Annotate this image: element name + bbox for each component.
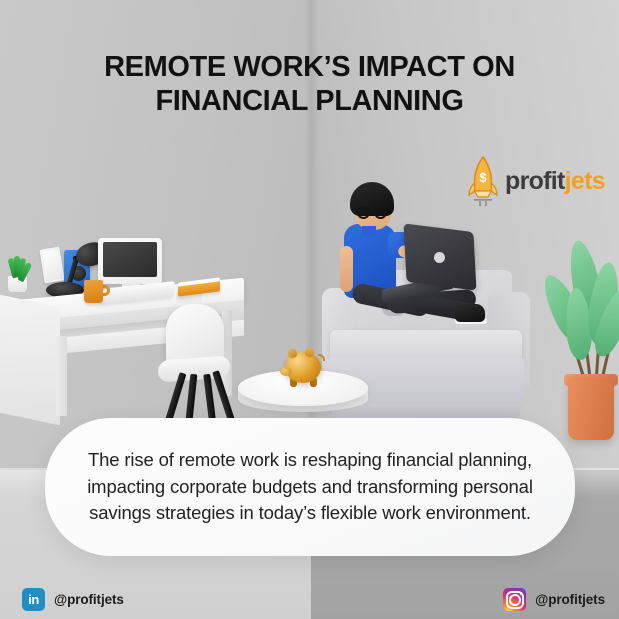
monitor [98, 238, 162, 284]
instagram-icon-dot [520, 592, 523, 595]
footer-instagram[interactable]: @profitjets [503, 588, 605, 611]
instagram-icon[interactable] [503, 588, 526, 611]
post-title: REMOTE WORK’S IMPACT ON FINANCIAL PLANNI… [0, 50, 619, 118]
linkedin-icon-glyph: in [22, 588, 45, 611]
linkedin-icon[interactable]: in [22, 588, 45, 611]
coffee-mug [84, 280, 103, 303]
brand-wordmark-part-1: profit [505, 167, 565, 195]
plant-pot [568, 378, 614, 440]
laptop-logo [434, 252, 445, 263]
brand-wordmark: profitjets [505, 169, 605, 194]
desk-leg [56, 336, 67, 416]
piggy-bank-snout [280, 367, 292, 376]
desk-side-panel [0, 293, 60, 426]
linkedin-handle[interactable]: @profitjets [54, 592, 124, 607]
brand-logo: $ profitjets [466, 155, 605, 207]
body-text-card: The rise of remote work is reshaping fin… [45, 418, 575, 556]
sofa-skirt [332, 404, 520, 418]
instagram-icon-lens [509, 594, 521, 606]
glasses-lens [357, 206, 370, 219]
body-text: The rise of remote work is reshaping fin… [86, 447, 534, 526]
social-post-canvas: REMOTE WORK’S IMPACT ON FINANCIAL PLANNI… [0, 0, 619, 619]
person-shoe [455, 304, 485, 322]
brand-wordmark-part-2: jets [565, 167, 605, 195]
post-title-line-1: REMOTE WORK’S IMPACT ON [0, 50, 619, 84]
glasses-bridge [371, 212, 376, 214]
instagram-handle[interactable]: @profitjets [535, 592, 605, 607]
post-title-line-2: FINANCIAL PLANNING [0, 84, 619, 118]
footer-linkedin[interactable]: in @profitjets [22, 588, 124, 611]
svg-text:$: $ [479, 170, 487, 185]
person-arm [340, 246, 353, 292]
rocket-dollar-icon: $ [466, 155, 500, 207]
